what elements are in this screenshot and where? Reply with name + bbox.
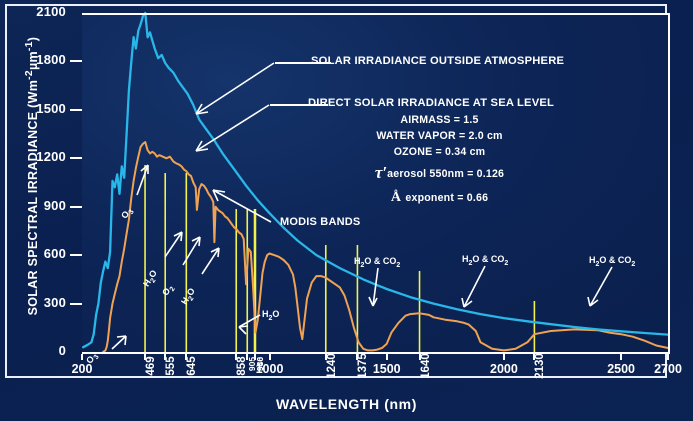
water-co2-label-2: H2O & CO2 (462, 254, 508, 267)
arrow-h2o-2 (202, 248, 219, 274)
x-tick-label-2500: 2500 (607, 362, 635, 376)
y-tick-1500 (70, 109, 82, 111)
x-tick-2500 (620, 354, 622, 360)
x-tick-1000 (269, 354, 271, 360)
x-tick-label-1500: 1500 (373, 362, 401, 376)
x-tick-label-2000: 2000 (490, 362, 518, 376)
y-tick-1200 (70, 157, 82, 159)
x-tick-200 (81, 354, 83, 360)
x-tick-2000 (503, 354, 505, 360)
water-co2-label-3: H2O & CO2 (589, 255, 635, 268)
x-tick-label-1375: 1375 (357, 353, 369, 379)
chart-root: SOLAR SPECTRAL IRRADIANCE (Wm-2µm-1) 030… (0, 0, 693, 421)
arrow-h2o-co2-2 (462, 266, 485, 307)
y-tick-label-600: 600 (44, 246, 66, 261)
y-tick-900 (70, 206, 82, 208)
y-tick-300 (70, 303, 82, 305)
arrow-h2o-1 (165, 232, 182, 257)
x-tick-label-1640: 1640 (420, 353, 432, 379)
arrow-ozone-low (112, 336, 126, 349)
param-angstrom-exponent: Å exponent = 0.66 (308, 188, 571, 206)
angstrom-symbol: Å (391, 190, 401, 205)
leader-outside-atmosphere-head (196, 104, 208, 114)
tau-symbol: τ′ (375, 163, 387, 182)
param-tau-aerosol: τ′aerosol 550nm = 0.126 (308, 163, 571, 183)
water-co2-label-1: H2O & CO2 (354, 256, 400, 269)
x-tick-label-200: 200 (72, 362, 93, 376)
arrow-h2o-co2-3 (588, 267, 612, 306)
x-tick-label-2700: 2700 (654, 362, 682, 376)
y-tick-600 (70, 254, 82, 256)
arrow-h2o-co2-1 (369, 268, 378, 306)
x-axis-title: WAVELENGTH (nm) (0, 396, 693, 412)
param-water-vapor: WATER VAPOR = 2.0 cm (308, 130, 571, 142)
y-tick-label-2100: 2100 (36, 4, 66, 19)
x-axis-line (82, 352, 670, 354)
modis-bands-label: MODIS BANDS (280, 216, 360, 228)
x-tick-label-1240: 1240 (326, 353, 338, 379)
leader-outside-atmosphere (196, 63, 274, 114)
water-label-3: H2O (262, 309, 279, 322)
plot-right-border (668, 13, 670, 354)
y-tick-1800 (70, 60, 82, 62)
x-tick-label-469: 469 (145, 356, 157, 375)
plot-top-border (82, 13, 670, 15)
leader-arrows (196, 63, 274, 222)
x-tick-label-2130: 2130 (534, 353, 546, 379)
arrow-ozone-high (137, 165, 148, 195)
y-tick-label-900: 900 (44, 198, 66, 213)
plot-area: O3 O3 H2O O2 H2O H2O H2O & CO2 H2O & CO2… (82, 13, 668, 352)
legend-outside-atmosphere: SOLAR IRRADIANCE OUTSIDE ATMOSPHERE (311, 55, 564, 67)
y-tick-label-0: 0 (59, 343, 66, 358)
x-tick-label-645: 645 (186, 356, 198, 375)
y-tick-label-1500: 1500 (36, 101, 66, 116)
x-tick-label-555: 555 (165, 356, 177, 375)
x-tick-label-1000: 1000 (256, 362, 284, 376)
tau-aerosol-text: aerosol 550nm = 0.126 (387, 168, 504, 180)
param-ozone: OZONE = 0.34 cm (308, 146, 571, 158)
angstrom-exponent-text: exponent = 0.66 (405, 192, 488, 204)
y-tick-label-1200: 1200 (36, 149, 66, 164)
y-tick-label-300: 300 (44, 295, 66, 310)
leader-sea-level-head (196, 141, 208, 151)
legend-sea-level: DIRECT SOLAR IRRADIANCE AT SEA LEVEL (308, 97, 554, 109)
x-tick-2700 (667, 354, 669, 360)
x-tick-1500 (386, 354, 388, 360)
param-airmass: AIRMASS = 1.5 (308, 114, 571, 126)
y-tick-label-1800: 1800 (36, 52, 66, 67)
